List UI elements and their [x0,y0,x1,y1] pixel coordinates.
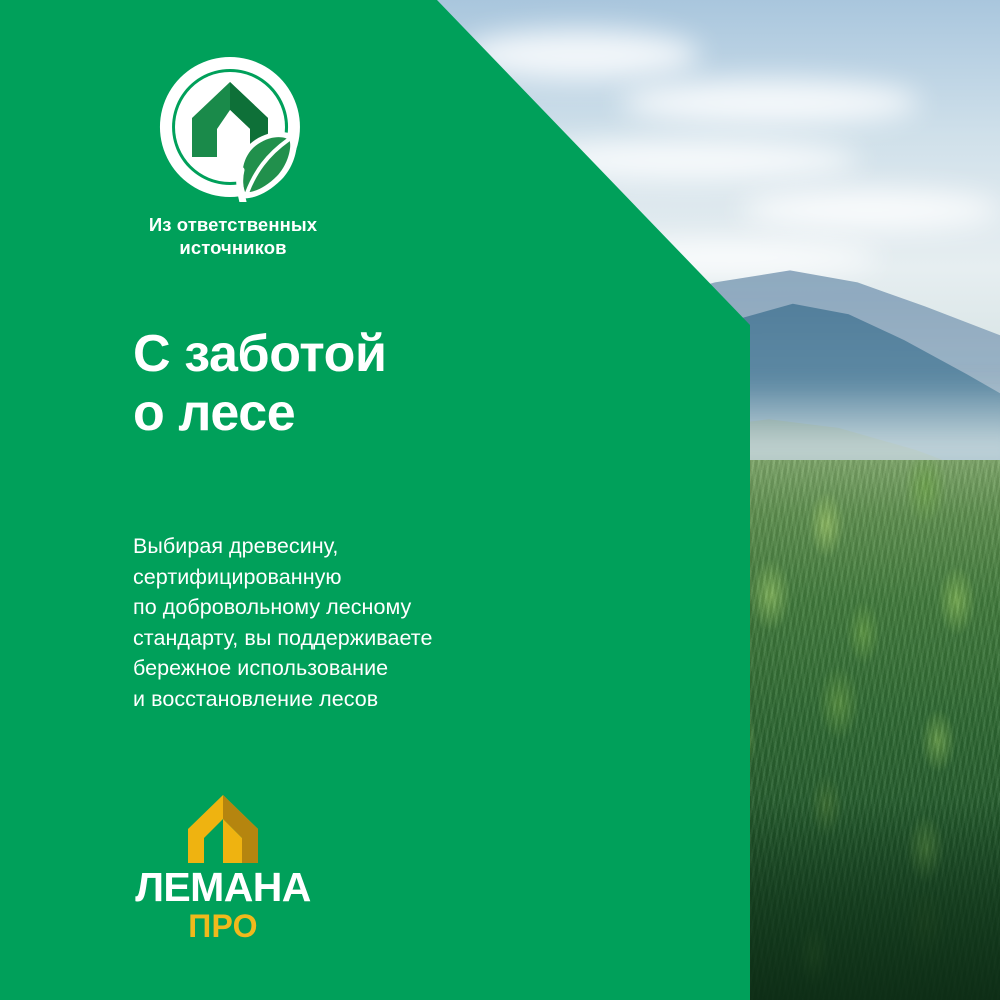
badge-caption: Из ответственных источников [133,214,333,260]
poster-content: Из ответственных источников С заботой о … [0,0,1000,1000]
promo-poster: Из ответственных источников С заботой о … [0,0,1000,1000]
page-title: С заботой о лесе [133,325,387,443]
brand-sub: ПРО [133,910,313,942]
body-text: Выбирая древесину, сертифицированную по … [133,531,432,714]
brand-logo: ЛЕМАНА ПРО [133,793,313,942]
house-leaf-circle-icon [155,52,305,202]
brand-name: ЛЕМАНА [133,867,313,908]
house-logo-icon [186,793,260,865]
certification-badge: Из ответственных источников [133,52,363,260]
